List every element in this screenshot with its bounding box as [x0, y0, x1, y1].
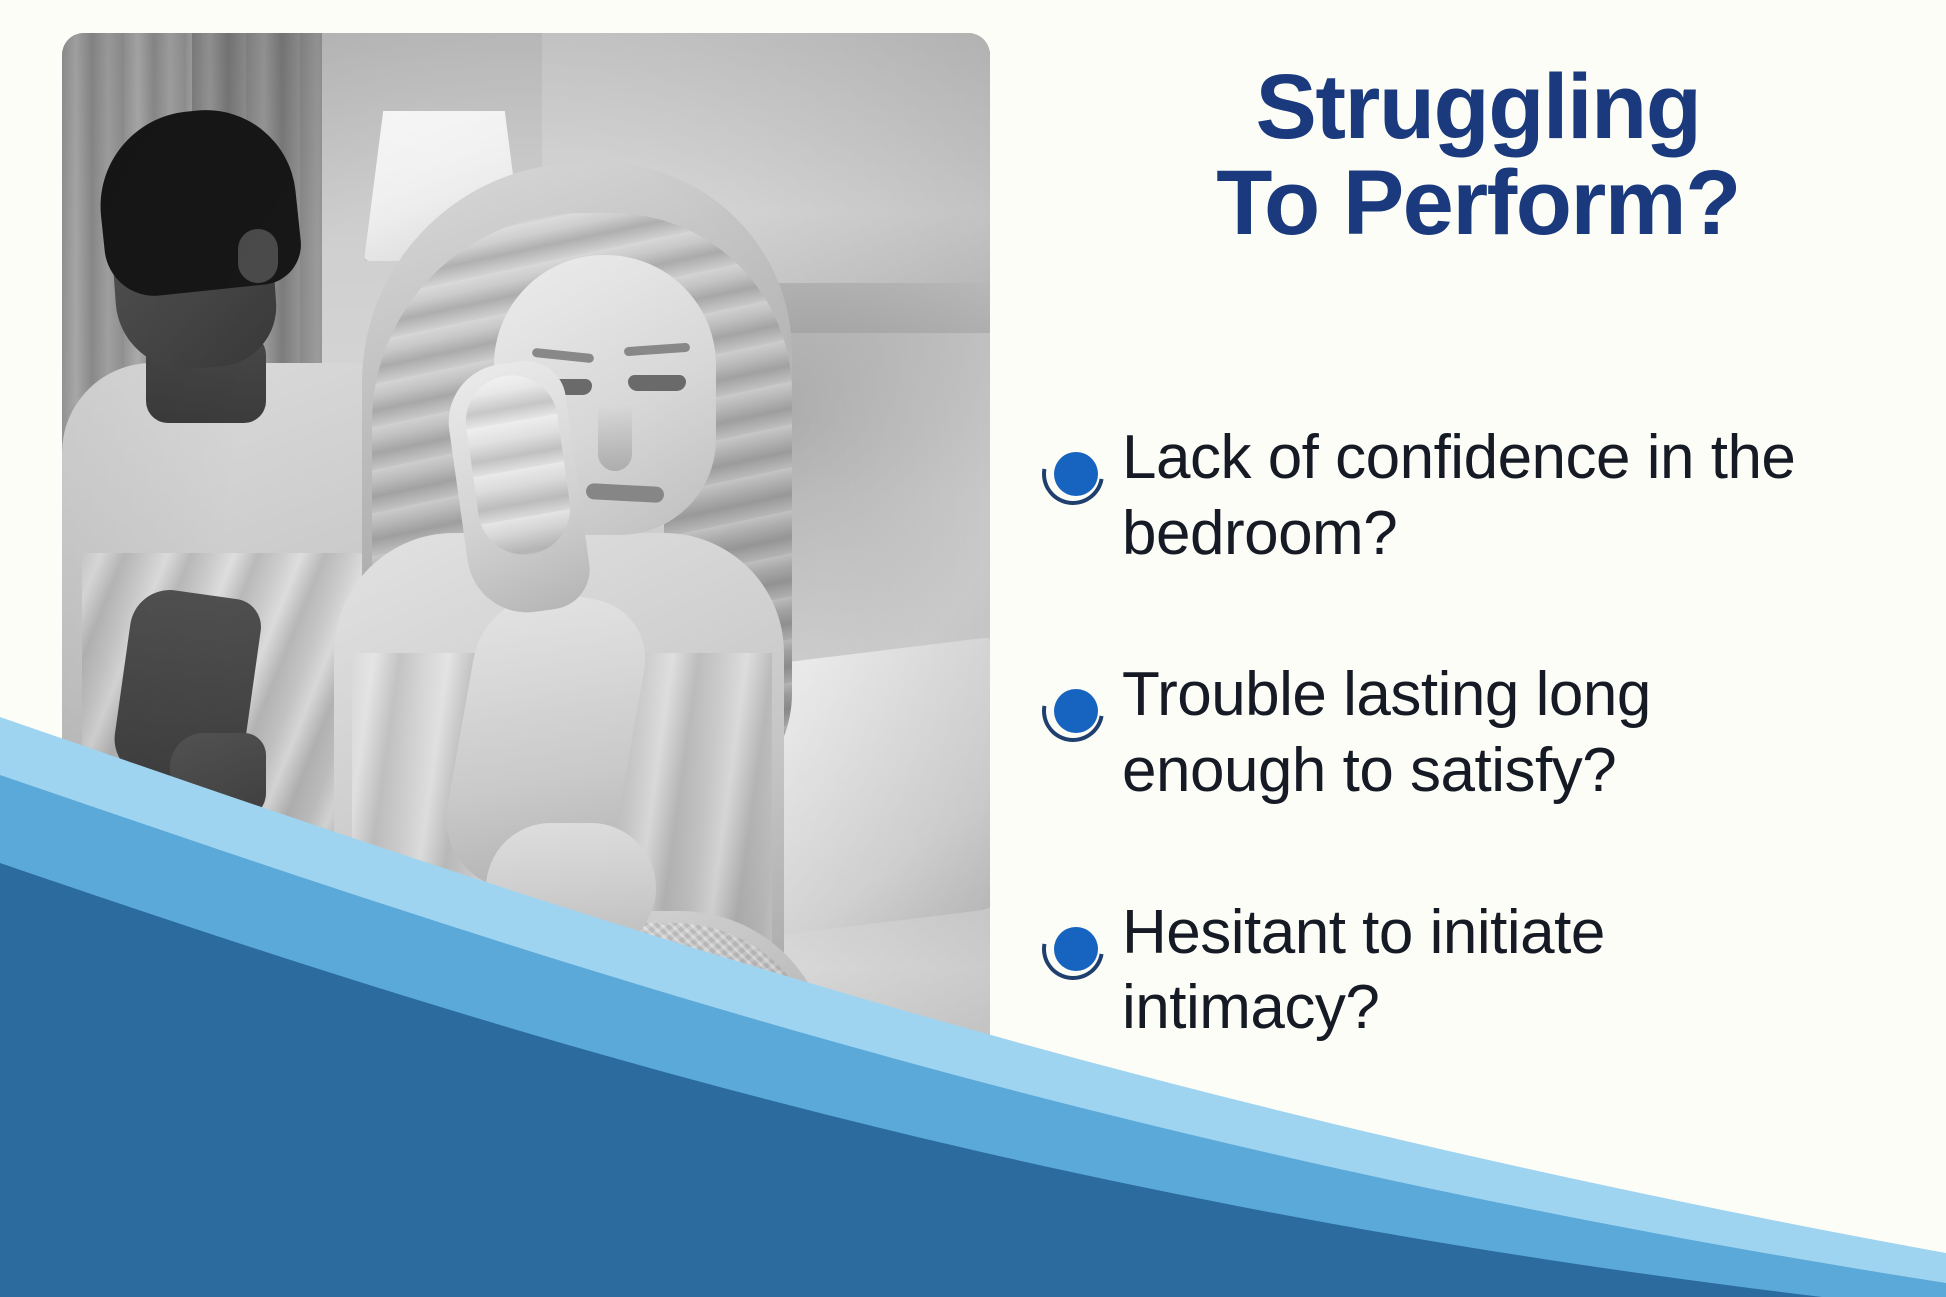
bullet-list: Lack of confidence in the bedroom? Troub…: [1040, 420, 1920, 1046]
list-item: Lack of confidence in the bedroom?: [1040, 420, 1920, 571]
slide-canvas: Struggling To Perform? Lack of confidenc…: [0, 0, 1946, 1297]
photo-vignette: [62, 33, 990, 1183]
list-item: Trouble lasting long enough to satisfy?: [1040, 657, 1920, 808]
list-item: Hesitant to initiate intimacy?: [1040, 895, 1920, 1046]
bullet-dot: [1054, 927, 1098, 971]
bullet-circle-icon: [1040, 442, 1102, 504]
photo-content: [62, 33, 990, 1183]
page-title-line1: Struggling: [1256, 56, 1701, 158]
bullet-text: Trouble lasting long enough to satisfy?: [1122, 657, 1862, 808]
bullet-dot: [1054, 689, 1098, 733]
bullet-circle-icon: [1040, 679, 1102, 741]
couple-photo: [62, 33, 990, 1183]
page-title: Struggling To Perform?: [1058, 60, 1898, 251]
bullet-text: Lack of confidence in the bedroom?: [1122, 420, 1862, 571]
text-panel: Struggling To Perform? Lack of confidenc…: [1040, 0, 1920, 1297]
bullet-dot: [1054, 452, 1098, 496]
bullet-text: Hesitant to initiate intimacy?: [1122, 895, 1862, 1046]
bullet-circle-icon: [1040, 917, 1102, 979]
page-title-line2: To Perform?: [1058, 156, 1898, 252]
